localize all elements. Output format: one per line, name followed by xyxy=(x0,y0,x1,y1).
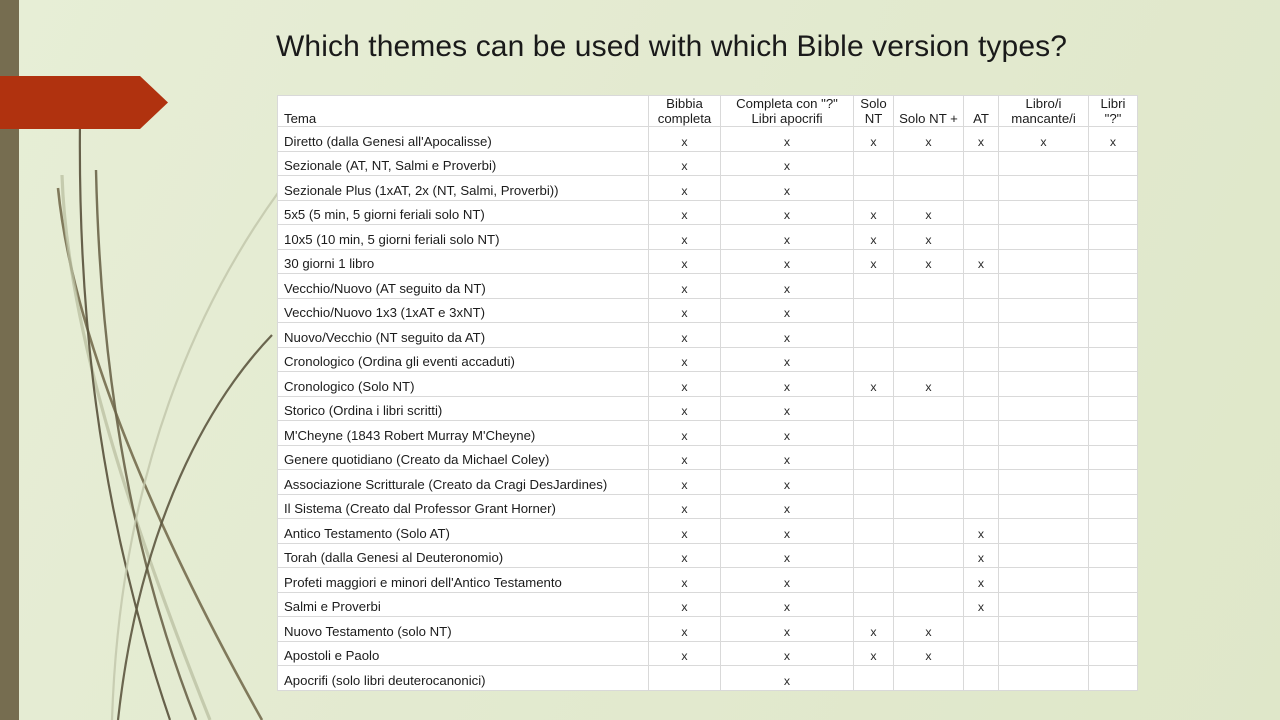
table-row: Nuovo Testamento (solo NT)xxxx xyxy=(278,617,1138,642)
table-row: Vecchio/Nuovo (AT seguito da NT)xx xyxy=(278,274,1138,299)
cell-empty xyxy=(999,298,1089,323)
row-theme-label: Storico (Ordina i libri scritti) xyxy=(278,396,649,421)
cell-empty xyxy=(854,176,894,201)
cell-supported: x xyxy=(721,421,854,446)
cell-supported: x xyxy=(649,249,721,274)
column-header-solo-nt-plus: Solo NT + xyxy=(894,96,964,127)
column-header-at-line2: AT xyxy=(964,111,998,126)
cell-supported: x xyxy=(721,592,854,617)
cell-supported: x xyxy=(649,298,721,323)
cell-supported: x xyxy=(649,323,721,348)
cell-supported: x xyxy=(721,249,854,274)
row-theme-label: Vecchio/Nuovo 1x3 (1xAT e 3xNT) xyxy=(278,298,649,323)
cell-supported: x xyxy=(721,176,854,201)
cell-supported: x xyxy=(854,225,894,250)
cell-supported: x xyxy=(649,274,721,299)
cell-supported: x xyxy=(649,494,721,519)
row-theme-label: Il Sistema (Creato dal Professor Grant H… xyxy=(278,494,649,519)
cell-supported: x xyxy=(721,274,854,299)
cell-empty xyxy=(854,298,894,323)
cell-empty xyxy=(999,176,1089,201)
cell-supported: x xyxy=(894,641,964,666)
cell-empty xyxy=(854,421,894,446)
row-theme-label: 30 giorni 1 libro xyxy=(278,249,649,274)
column-header-libri-apocrifi: Completa con "?" Libri apocrifi xyxy=(721,96,854,127)
cell-empty xyxy=(854,274,894,299)
cell-supported: x xyxy=(721,543,854,568)
slide-canvas: Which themes can be used with which Bibl… xyxy=(0,0,1280,720)
cell-empty xyxy=(999,249,1089,274)
cell-empty xyxy=(1089,274,1138,299)
cell-supported: x xyxy=(649,151,721,176)
cell-empty xyxy=(999,666,1089,691)
cell-empty xyxy=(894,666,964,691)
cell-empty xyxy=(1089,225,1138,250)
row-theme-label: Genere quotidiano (Creato da Michael Col… xyxy=(278,445,649,470)
cell-supported: x xyxy=(721,347,854,372)
cell-empty xyxy=(1089,151,1138,176)
cell-supported: x xyxy=(964,592,999,617)
table-row: Sezionale Plus (1xAT, 2x (NT, Salmi, Pro… xyxy=(278,176,1138,201)
cell-supported: x xyxy=(964,127,999,152)
table-row: Cronologico (Ordina gli eventi accaduti)… xyxy=(278,347,1138,372)
cell-empty xyxy=(1089,543,1138,568)
cell-empty xyxy=(894,298,964,323)
cell-empty xyxy=(854,666,894,691)
cell-supported: x xyxy=(721,298,854,323)
table-row: Associazione Scritturale (Creato da Crag… xyxy=(278,470,1138,495)
column-header-theme: Tema xyxy=(278,96,649,127)
cell-empty xyxy=(964,494,999,519)
cell-supported: x xyxy=(964,249,999,274)
cell-empty xyxy=(999,592,1089,617)
cell-empty xyxy=(1089,200,1138,225)
cell-empty xyxy=(1089,519,1138,544)
column-header-libro-mancante: Libro/i mancante/i xyxy=(999,96,1089,127)
cell-supported: x xyxy=(649,592,721,617)
cell-supported: x xyxy=(649,641,721,666)
cell-empty xyxy=(964,396,999,421)
cell-empty xyxy=(964,176,999,201)
cell-supported: x xyxy=(721,396,854,421)
cell-empty xyxy=(894,519,964,544)
cell-supported: x xyxy=(854,127,894,152)
table-row: Sezionale (AT, NT, Salmi e Proverbi)xx xyxy=(278,151,1138,176)
table-body: Diretto (dalla Genesi all'Apocalisse)xxx… xyxy=(278,127,1138,691)
cell-empty xyxy=(964,200,999,225)
column-header-libri-apocrifi-line2: Libri apocrifi xyxy=(721,111,853,126)
cell-empty xyxy=(894,323,964,348)
row-theme-label: Sezionale Plus (1xAT, 2x (NT, Salmi, Pro… xyxy=(278,176,649,201)
row-theme-label: Nuovo Testamento (solo NT) xyxy=(278,617,649,642)
column-header-bibbia-completa: Bibbia completa xyxy=(649,96,721,127)
table-row: 30 giorni 1 libroxxxxx xyxy=(278,249,1138,274)
row-theme-label: Torah (dalla Genesi al Deuteronomio) xyxy=(278,543,649,568)
cell-empty xyxy=(894,176,964,201)
cell-empty xyxy=(894,592,964,617)
cell-empty xyxy=(999,470,1089,495)
cell-supported: x xyxy=(721,445,854,470)
cell-empty xyxy=(1089,347,1138,372)
cell-empty xyxy=(999,347,1089,372)
cell-empty xyxy=(894,445,964,470)
cell-empty xyxy=(1089,298,1138,323)
cell-supported: x xyxy=(964,568,999,593)
cell-empty xyxy=(999,641,1089,666)
table-row: Cronologico (Solo NT)xxxx xyxy=(278,372,1138,397)
table-header: Tema Bibbia completa Completa con "?" Li… xyxy=(278,96,1138,127)
table-row: Genere quotidiano (Creato da Michael Col… xyxy=(278,445,1138,470)
table-row: Vecchio/Nuovo 1x3 (1xAT e 3xNT)xx xyxy=(278,298,1138,323)
cell-empty xyxy=(1089,249,1138,274)
cell-supported: x xyxy=(964,519,999,544)
cell-empty xyxy=(964,617,999,642)
table-row: Storico (Ordina i libri scritti)xx xyxy=(278,396,1138,421)
cell-supported: x xyxy=(894,372,964,397)
cell-supported: x xyxy=(854,372,894,397)
table-row: M'Cheyne (1843 Robert Murray M'Cheyne)xx xyxy=(278,421,1138,446)
cell-supported: x xyxy=(894,249,964,274)
cell-empty xyxy=(894,421,964,446)
row-theme-label: Vecchio/Nuovo (AT seguito da NT) xyxy=(278,274,649,299)
row-theme-label: Apocrifi (solo libri deuterocanonici) xyxy=(278,666,649,691)
cell-supported: x xyxy=(649,617,721,642)
cell-empty xyxy=(999,225,1089,250)
column-header-solo-nt: Solo NT xyxy=(854,96,894,127)
row-theme-label: 10x5 (10 min, 5 giorni feriali solo NT) xyxy=(278,225,649,250)
cell-supported: x xyxy=(894,127,964,152)
cell-empty xyxy=(999,617,1089,642)
cell-supported: x xyxy=(649,445,721,470)
cell-supported: x xyxy=(999,127,1089,152)
cell-empty xyxy=(854,445,894,470)
cell-empty xyxy=(964,225,999,250)
cell-empty xyxy=(854,347,894,372)
cell-empty xyxy=(1089,641,1138,666)
cell-supported: x xyxy=(894,200,964,225)
cell-supported: x xyxy=(854,200,894,225)
cell-supported: x xyxy=(721,470,854,495)
cell-supported: x xyxy=(721,225,854,250)
cell-empty xyxy=(894,151,964,176)
cell-empty xyxy=(964,274,999,299)
cell-supported: x xyxy=(649,396,721,421)
cell-empty xyxy=(964,445,999,470)
cell-empty xyxy=(999,421,1089,446)
column-header-libri-apocrifi-line1: Completa con "?" xyxy=(721,96,853,111)
cell-supported: x xyxy=(649,225,721,250)
cell-supported: x xyxy=(894,225,964,250)
table-row: Il Sistema (Creato dal Professor Grant H… xyxy=(278,494,1138,519)
cell-empty xyxy=(854,151,894,176)
table-row: Profeti maggiori e minori dell'Antico Te… xyxy=(278,568,1138,593)
cell-empty xyxy=(854,519,894,544)
cell-empty xyxy=(999,200,1089,225)
cell-empty xyxy=(999,445,1089,470)
cell-supported: x xyxy=(721,372,854,397)
cell-supported: x xyxy=(649,347,721,372)
cell-supported: x xyxy=(721,641,854,666)
cell-empty xyxy=(894,470,964,495)
row-theme-label: Associazione Scritturale (Creato da Crag… xyxy=(278,470,649,495)
cell-empty xyxy=(999,519,1089,544)
column-header-bibbia-completa-line2: completa xyxy=(649,111,720,126)
cell-empty xyxy=(999,396,1089,421)
cell-empty xyxy=(1089,666,1138,691)
cell-supported: x xyxy=(854,641,894,666)
cell-empty xyxy=(1089,494,1138,519)
cell-empty xyxy=(1089,421,1138,446)
column-header-libro-mancante-line2: mancante/i xyxy=(999,111,1088,126)
cell-supported: x xyxy=(649,372,721,397)
column-header-libri-question-line2: "?" xyxy=(1089,111,1137,126)
row-theme-label: 5x5 (5 min, 5 giorni feriali solo NT) xyxy=(278,200,649,225)
cell-supported: x xyxy=(721,200,854,225)
cell-supported: x xyxy=(721,617,854,642)
cell-empty xyxy=(854,568,894,593)
cell-supported: x xyxy=(649,200,721,225)
column-header-solo-nt-line2: NT xyxy=(854,111,893,126)
cell-supported: x xyxy=(649,421,721,446)
cell-supported: x xyxy=(721,519,854,544)
row-theme-label: Diretto (dalla Genesi all'Apocalisse) xyxy=(278,127,649,152)
cell-supported: x xyxy=(1089,127,1138,152)
cell-supported: x xyxy=(721,151,854,176)
red-arrow-banner xyxy=(0,76,168,129)
cell-empty xyxy=(894,568,964,593)
cell-empty xyxy=(964,298,999,323)
column-header-libri-question-line1: Libri xyxy=(1089,96,1137,111)
column-header-at: AT xyxy=(964,96,999,127)
row-theme-label: Antico Testamento (Solo AT) xyxy=(278,519,649,544)
cell-empty xyxy=(999,372,1089,397)
cell-empty xyxy=(854,396,894,421)
cell-empty xyxy=(894,347,964,372)
cell-supported: x xyxy=(649,519,721,544)
cell-supported: x xyxy=(649,568,721,593)
cell-empty xyxy=(999,274,1089,299)
column-header-libro-mancante-line1: Libro/i xyxy=(999,96,1088,111)
cell-empty xyxy=(964,372,999,397)
table-row: 10x5 (10 min, 5 giorni feriali solo NT)x… xyxy=(278,225,1138,250)
cell-supported: x xyxy=(721,494,854,519)
cell-empty xyxy=(1089,396,1138,421)
table-row: Salmi e Proverbixxx xyxy=(278,592,1138,617)
cell-supported: x xyxy=(649,470,721,495)
column-header-libri-question: Libri "?" xyxy=(1089,96,1138,127)
cell-supported: x xyxy=(721,568,854,593)
table-row: 5x5 (5 min, 5 giorni feriali solo NT)xxx… xyxy=(278,200,1138,225)
cell-supported: x xyxy=(854,617,894,642)
cell-empty xyxy=(964,666,999,691)
table-header-row: Tema Bibbia completa Completa con "?" Li… xyxy=(278,96,1138,127)
cell-empty xyxy=(999,543,1089,568)
cell-empty xyxy=(894,543,964,568)
cell-empty xyxy=(894,494,964,519)
cell-supported: x xyxy=(721,666,854,691)
row-theme-label: M'Cheyne (1843 Robert Murray M'Cheyne) xyxy=(278,421,649,446)
column-header-solo-nt-plus-line2: Solo NT + xyxy=(894,111,963,126)
table-row: Nuovo/Vecchio (NT seguito da AT)xx xyxy=(278,323,1138,348)
cell-supported: x xyxy=(721,323,854,348)
cell-empty xyxy=(964,641,999,666)
cell-empty xyxy=(894,274,964,299)
cell-supported: x xyxy=(649,127,721,152)
cell-empty xyxy=(964,151,999,176)
cell-empty xyxy=(854,470,894,495)
table-row: Torah (dalla Genesi al Deuteronomio)xxx xyxy=(278,543,1138,568)
cell-empty xyxy=(964,470,999,495)
column-header-bibbia-completa-line1: Bibbia xyxy=(649,96,720,111)
themes-compatibility-table: Tema Bibbia completa Completa con "?" Li… xyxy=(277,95,1138,691)
cell-empty xyxy=(964,421,999,446)
cell-empty xyxy=(1089,592,1138,617)
cell-empty xyxy=(854,592,894,617)
cell-empty xyxy=(999,323,1089,348)
page-title: Which themes can be used with which Bibl… xyxy=(276,30,1206,64)
cell-supported: x xyxy=(894,617,964,642)
cell-empty xyxy=(1089,323,1138,348)
cell-empty xyxy=(1089,176,1138,201)
cell-empty xyxy=(1089,617,1138,642)
column-header-solo-nt-line1: Solo xyxy=(854,96,893,111)
column-header-theme-line2: Tema xyxy=(284,111,648,126)
cell-supported: x xyxy=(649,176,721,201)
row-theme-label: Cronologico (Solo NT) xyxy=(278,372,649,397)
cell-empty xyxy=(649,666,721,691)
cell-supported: x xyxy=(721,127,854,152)
cell-empty xyxy=(854,323,894,348)
cell-supported: x xyxy=(964,543,999,568)
cell-supported: x xyxy=(649,543,721,568)
row-theme-label: Salmi e Proverbi xyxy=(278,592,649,617)
row-theme-label: Nuovo/Vecchio (NT seguito da AT) xyxy=(278,323,649,348)
cell-empty xyxy=(1089,470,1138,495)
cell-supported: x xyxy=(854,249,894,274)
row-theme-label: Sezionale (AT, NT, Salmi e Proverbi) xyxy=(278,151,649,176)
cell-empty xyxy=(964,347,999,372)
row-theme-label: Profeti maggiori e minori dell'Antico Te… xyxy=(278,568,649,593)
cell-empty xyxy=(1089,445,1138,470)
table-row: Apocrifi (solo libri deuterocanonici)x xyxy=(278,666,1138,691)
table-row: Apostoli e Paoloxxxx xyxy=(278,641,1138,666)
cell-empty xyxy=(894,396,964,421)
row-theme-label: Apostoli e Paolo xyxy=(278,641,649,666)
cell-empty xyxy=(1089,372,1138,397)
row-theme-label: Cronologico (Ordina gli eventi accaduti) xyxy=(278,347,649,372)
cell-empty xyxy=(1089,568,1138,593)
themes-table-container: Tema Bibbia completa Completa con "?" Li… xyxy=(277,95,1138,691)
cell-empty xyxy=(999,568,1089,593)
cell-empty xyxy=(854,494,894,519)
table-row: Antico Testamento (Solo AT)xxx xyxy=(278,519,1138,544)
table-row: Diretto (dalla Genesi all'Apocalisse)xxx… xyxy=(278,127,1138,152)
cell-empty xyxy=(999,151,1089,176)
cell-empty xyxy=(964,323,999,348)
cell-empty xyxy=(854,543,894,568)
cell-empty xyxy=(999,494,1089,519)
